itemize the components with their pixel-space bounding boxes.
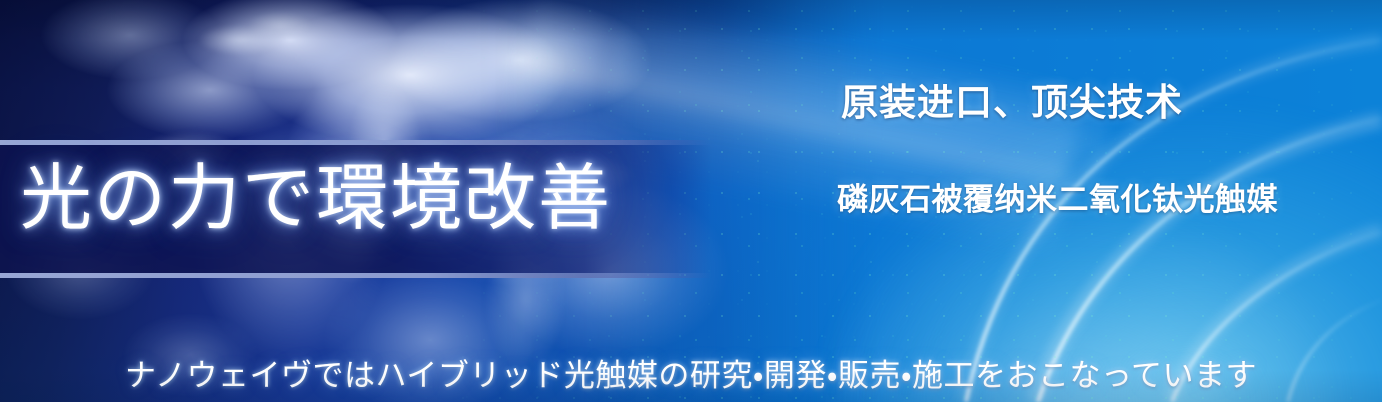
- promo-text-block: 原装进口、顶尖技术 磷灰石被覆纳米二氧化钛光触媒: [841, 72, 1361, 219]
- tagline: ナノウェイヴではハイブリッド光触媒の研究・開発・販売・施工をおこなっています: [0, 350, 1382, 395]
- headline-band-top-edge: [0, 140, 712, 145]
- page-title: 光の力で環境改善: [20, 158, 680, 239]
- hero-banner: 光の力で環境改善 原装进口、顶尖技术 磷灰石被覆纳米二氧化钛光触媒 ナノウェイヴ…: [0, 0, 1382, 402]
- promo-headline: 原装进口、顶尖技术: [841, 72, 1361, 126]
- headline-band-bottom-edge: [0, 273, 712, 278]
- promo-subheadline: 磷灰石被覆纳米二氧化钛光触媒: [837, 174, 1361, 219]
